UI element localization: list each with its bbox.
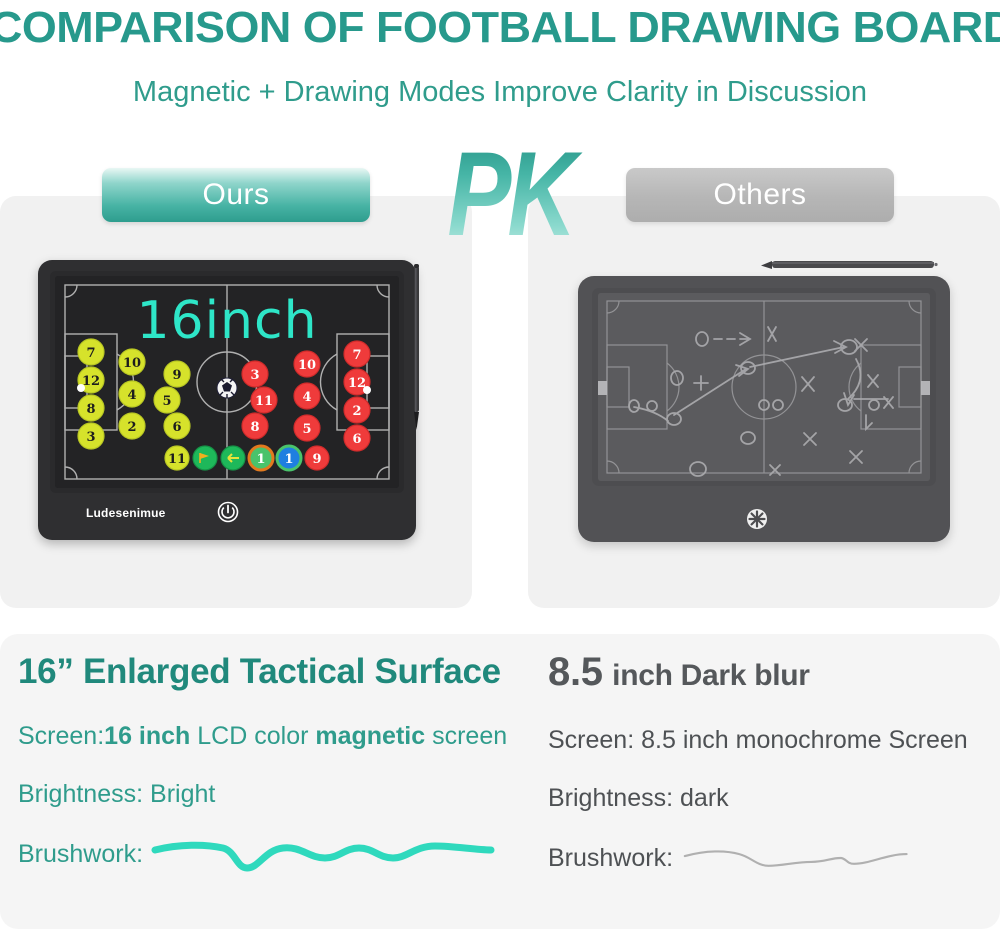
svg-text:3: 3 (86, 430, 95, 445)
stylus-icon (412, 262, 421, 434)
svg-text:2: 2 (127, 420, 136, 435)
comparison-infographic: COMPARISON OF FOOTBALL DRAWING BOARDS Ma… (0, 0, 1000, 929)
others-heading-rest: inch Dark blur (612, 659, 810, 692)
ours-screen-magnetic: magnetic (315, 722, 425, 750)
ours-screen-mid: LCD color (190, 722, 315, 750)
svg-text:9: 9 (312, 452, 321, 467)
svg-text:1: 1 (256, 452, 265, 467)
svg-text:5: 5 (162, 394, 171, 409)
ours-brightness-value: Bright (150, 780, 215, 808)
others-screen (598, 293, 930, 481)
svg-text:5: 5 (302, 422, 311, 437)
others-badge: Others (626, 168, 894, 222)
svg-text:8: 8 (86, 402, 95, 417)
others-heading-number: 8.5 (548, 650, 603, 694)
ours-brand-label: Ludesenimue (86, 506, 166, 520)
ours-badge: Ours (102, 168, 370, 222)
svg-text:10: 10 (298, 358, 316, 373)
stylus-icon (760, 258, 942, 272)
svg-text:7: 7 (86, 346, 95, 361)
svg-text:2: 2 (352, 404, 361, 419)
others-screen-label: Screen: (548, 726, 634, 754)
ours-brush-stroke-icon (149, 832, 497, 876)
ours-brightness-label: Brightness: (18, 780, 143, 808)
ours-screen: 16inch 7 12 8 3 (55, 276, 399, 488)
ours-brushwork-label: Brushwork: (18, 840, 143, 869)
pk-versus-label: PK (420, 126, 600, 264)
others-brushwork-row: Brushwork: (548, 836, 1000, 880)
ours-pitch-graphic: 16inch 7 12 8 3 (55, 276, 399, 488)
others-screen-line: Screen: 8.5 inch monochrome Screen (548, 724, 1000, 756)
svg-text:3: 3 (250, 368, 259, 383)
svg-text:11: 11 (168, 452, 186, 467)
svg-text:4: 4 (127, 388, 136, 403)
svg-text:9: 9 (172, 368, 181, 383)
others-spec-column: 8.5 inch Dark blur Screen: 8.5 inch mono… (548, 650, 1000, 880)
page-subtitle: Magnetic + Drawing Modes Improve Clarity… (0, 74, 1000, 110)
soccer-ball-icon (217, 378, 237, 398)
power-icon[interactable] (216, 500, 240, 524)
svg-text:11: 11 (255, 394, 273, 409)
others-tablet (578, 276, 950, 542)
svg-text:6: 6 (352, 432, 361, 447)
ours-brightness-line: Brightness: Bright (18, 778, 538, 810)
svg-text:10: 10 (123, 356, 141, 371)
others-brightness-line: Brightness: dark (548, 782, 1000, 814)
ours-screen-label: Screen: (18, 722, 104, 750)
svg-text:7: 7 (352, 348, 361, 363)
svg-text:8: 8 (250, 420, 259, 435)
others-spec-heading: 8.5 inch Dark blur (548, 650, 1000, 698)
page-title: COMPARISON OF FOOTBALL DRAWING BOARDS (0, 2, 1000, 54)
ours-spec-heading: 16” Enlarged Tactical Surface (18, 650, 538, 694)
svg-text:4: 4 (302, 390, 311, 405)
others-brush-stroke-icon (679, 836, 1000, 880)
svg-text:16inch: 16inch (136, 291, 317, 351)
svg-text:6: 6 (172, 420, 181, 435)
others-pitch-graphic (598, 293, 930, 481)
others-brightness-label: Brightness: (548, 784, 673, 812)
others-brushwork-label: Brushwork: (548, 844, 673, 873)
starburst-icon[interactable] (746, 508, 768, 530)
svg-text:1: 1 (284, 452, 293, 467)
ours-spec-column: 16” Enlarged Tactical Surface Screen:16 … (18, 650, 538, 876)
others-screen-value: 8.5 inch monochrome Screen (641, 726, 968, 754)
ours-screen-tail: screen (425, 722, 507, 750)
ours-screen-line: Screen:16 inch LCD color magnetic screen (18, 720, 538, 752)
ours-tablet: 16inch 7 12 8 3 (38, 260, 416, 540)
others-brightness-value: dark (680, 784, 729, 812)
ours-brushwork-row: Brushwork: (18, 832, 538, 876)
ours-screen-size: 16 inch (104, 722, 190, 750)
